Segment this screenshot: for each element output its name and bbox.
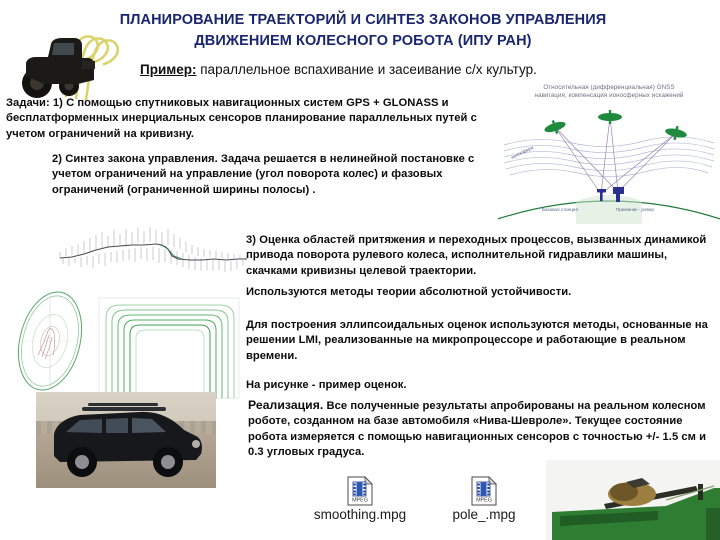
mpeg-label: MPEG — [476, 498, 492, 504]
title-line-1: ПЛАНИРОВАНИЕ ТРАЕКТОРИЙ И СИНТЕЗ ЗАКОНОВ… — [96, 10, 630, 31]
mpeg-label: MPEG — [352, 498, 368, 504]
file-name-pole[interactable]: pole_.mpg — [424, 507, 544, 522]
realization-lead: Реализация. — [248, 398, 323, 412]
task-1-paragraph: Задачи: 1) С помощью спутниковых навигац… — [6, 96, 498, 142]
file-name-smoothing[interactable]: smoothing.mpg — [296, 507, 424, 522]
file-item-pole[interactable]: MPEG pole_.mpg — [424, 476, 544, 522]
trajectory-chart — [96, 296, 244, 400]
gnss-caption-line-2: навигация, компенсация ионосферных искаж… — [498, 92, 720, 100]
presentation-slide: ПЛАНИРОВАНИЕ ТРАЕКТОРИЙ И СИНТЕЗ ЗАКОНОВ… — [0, 0, 720, 540]
file-item-smoothing[interactable]: MPEG smoothing.mpg — [296, 476, 424, 522]
noise-signal-chart — [58, 226, 248, 288]
gnss-caption: Относительная (дифференциальная) GNSS на… — [498, 84, 720, 100]
title-line-2: ДВИЖЕНИЕМ КОЛЕСНОГО РОБОТА (ИПУ РАН) — [96, 31, 630, 52]
harvester-illustration — [546, 460, 720, 540]
realization-paragraph: Реализация. Все полученные результаты ап… — [248, 398, 720, 460]
ellipsoidal-estimate-plot — [0, 285, 102, 397]
wheeled-robot-photo — [36, 392, 216, 488]
subtitle-lead: Пример: — [140, 62, 197, 77]
file-icon-row: MPEG smoothing.mpg MPEG pole_.mpg — [296, 476, 544, 534]
figure-note-paragraph: На рисунке - пример оценок. — [246, 378, 720, 393]
mpeg-file-icon[interactable]: MPEG — [347, 476, 373, 506]
gnss-caption-line-1: Относительная (дифференциальная) GNSS — [498, 84, 720, 92]
absolute-stability-paragraph: Используются методы теории абсолютной ус… — [246, 285, 720, 300]
subtitle-rest: параллельное вспахивание и засеивание с/… — [197, 62, 537, 77]
slide-subtitle: Пример: параллельное вспахивание и засеи… — [140, 60, 660, 79]
lmi-paragraph: Для построения эллипсоидальных оценок ис… — [246, 318, 720, 364]
gnss-label-rover: Приемник - ровер — [616, 207, 654, 212]
task-2-paragraph: 2) Синтез закона управления. Задача реша… — [52, 152, 504, 198]
noise-mean-curve — [60, 244, 247, 260]
mpeg-file-icon[interactable]: MPEG — [471, 476, 497, 506]
gnss-illustration: ионосфера Базовая станция Приемник - ров… — [498, 101, 720, 224]
parallel-trajectory-plot — [96, 296, 244, 400]
ellipse-chart — [0, 285, 102, 397]
harvester-photo — [546, 460, 720, 540]
page-title: ПЛАНИРОВАНИЕ ТРАЕКТОРИЙ И СИНТЕЗ ЗАКОНОВ… — [96, 10, 630, 52]
niva-suv-silhouette — [36, 392, 216, 488]
gnss-label-base: Базовая станция — [542, 207, 578, 212]
task-3-paragraph: 3) Оценка областей притяжения и переходн… — [246, 233, 720, 279]
satellite-icons — [543, 110, 687, 140]
tractor-body — [22, 38, 95, 98]
noise-signal-plot — [58, 226, 248, 288]
gnss-diagram: Относительная (дифференциальная) GNSS на… — [498, 84, 720, 224]
